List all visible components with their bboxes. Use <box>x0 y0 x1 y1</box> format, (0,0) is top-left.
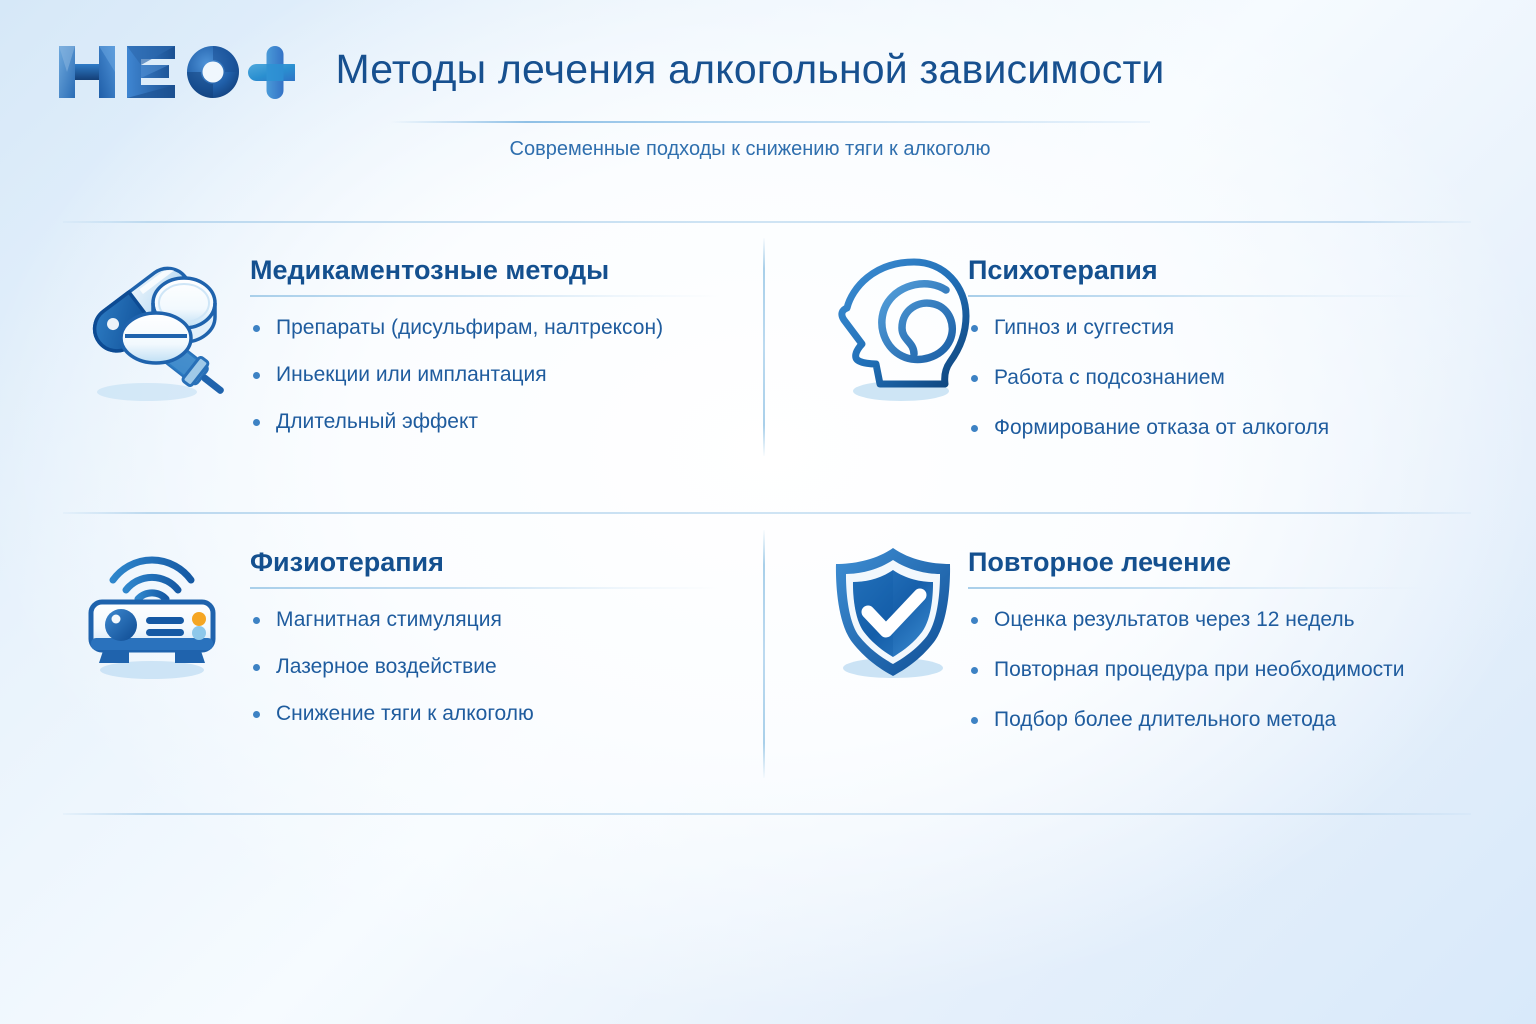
list-item: Оценка результатов через 12 недель <box>968 607 1513 633</box>
list-item: Формирование отказа от алкоголя <box>968 415 1513 441</box>
header: Методы лечения алкогольной зависимости С… <box>0 0 1536 185</box>
bullet-list: Магнитная стимуляция Лазерное воздействи… <box>250 589 770 728</box>
shield-check-icon <box>818 540 973 690</box>
page-title: Методы лечения алкогольной зависимости <box>300 46 1200 93</box>
bullet-dot-icon <box>253 325 260 332</box>
list-item-label: Иньекции или имплантация <box>276 363 547 386</box>
bullet-dot-icon <box>971 375 978 382</box>
section-heading: Психотерапия <box>968 256 1513 286</box>
list-item-label: Магнитная стимуляция <box>276 608 502 631</box>
list-item: Повторная процедура при необходимости <box>968 657 1513 683</box>
title-divider <box>390 121 1150 123</box>
neo-plus-logo <box>55 38 295 106</box>
bullet-dot-icon <box>971 617 978 624</box>
list-item-label: Подбор более длительного метода <box>994 708 1336 731</box>
list-item: Работа с подсознанием <box>968 365 1513 391</box>
bullet-dot-icon <box>253 617 260 624</box>
section-body: Физиотерапия Магнитная стимуляция Лазерн… <box>250 548 770 748</box>
list-item-label: Длительный эффект <box>276 410 478 433</box>
list-item-label: Снижение тяги к алкоголю <box>276 702 534 725</box>
list-item: Препараты (дисульфирам, налтрексон) <box>250 315 770 341</box>
list-item: Иньекции или имплантация <box>250 362 770 388</box>
bullet-dot-icon <box>253 372 260 379</box>
head-spiral-icon <box>818 248 983 413</box>
section-heading: Повторное лечение <box>968 548 1513 578</box>
pills-syringe-icon <box>75 248 240 413</box>
list-item-label: Формирование отказа от алкоголя <box>994 416 1329 439</box>
bullet-dot-icon <box>253 419 260 426</box>
bullet-list: Гипноз и суггестия Работа с подсознанием… <box>968 297 1513 442</box>
section-heading: Медикаментозные методы <box>250 256 770 286</box>
list-item: Подбор более длительного метода <box>968 707 1513 733</box>
list-item: Магнитная стимуляция <box>250 607 770 633</box>
list-item: Снижение тяги к алкоголю <box>250 701 770 727</box>
bullet-dot-icon <box>971 667 978 674</box>
list-item: Гипноз и суггестия <box>968 315 1513 341</box>
section-body: Повторное лечение Оценка результатов чер… <box>968 548 1513 757</box>
list-item: Лазерное воздействие <box>250 654 770 680</box>
section-body: Медикаментозные методы Препараты (дисуль… <box>250 256 770 456</box>
divider-bottom <box>63 813 1471 815</box>
bullet-dot-icon <box>971 325 978 332</box>
section-heading: Физиотерапия <box>250 548 770 578</box>
list-item: Длительный эффект <box>250 409 770 435</box>
infographic-poster: Методы лечения алкогольной зависимости С… <box>0 0 1536 1024</box>
divider-middle <box>63 512 1471 514</box>
page-subtitle: Современные подходы к снижению тяги к ал… <box>300 138 1200 161</box>
list-item-label: Гипноз и суггестия <box>994 316 1174 339</box>
therapy-device-icon <box>75 540 230 690</box>
bullet-list: Оценка результатов через 12 недель Повто… <box>968 589 1513 734</box>
bullet-dot-icon <box>971 717 978 724</box>
divider-top <box>63 221 1471 223</box>
list-item-label: Оценка результатов через 12 недель <box>994 608 1355 631</box>
bullet-dot-icon <box>253 711 260 718</box>
list-item-label: Повторная процедура при необходимости <box>994 658 1404 681</box>
list-item-label: Препараты (дисульфирам, налтрексон) <box>276 316 663 339</box>
list-item-label: Лазерное воздействие <box>276 655 497 678</box>
bullet-dot-icon <box>971 425 978 432</box>
list-item-label: Работа с подсознанием <box>994 366 1225 389</box>
bullet-list: Препараты (дисульфирам, налтрексон) Инье… <box>250 297 770 436</box>
section-body: Психотерапия Гипноз и суггестия Работа с… <box>968 256 1513 465</box>
bullet-dot-icon <box>253 664 260 671</box>
